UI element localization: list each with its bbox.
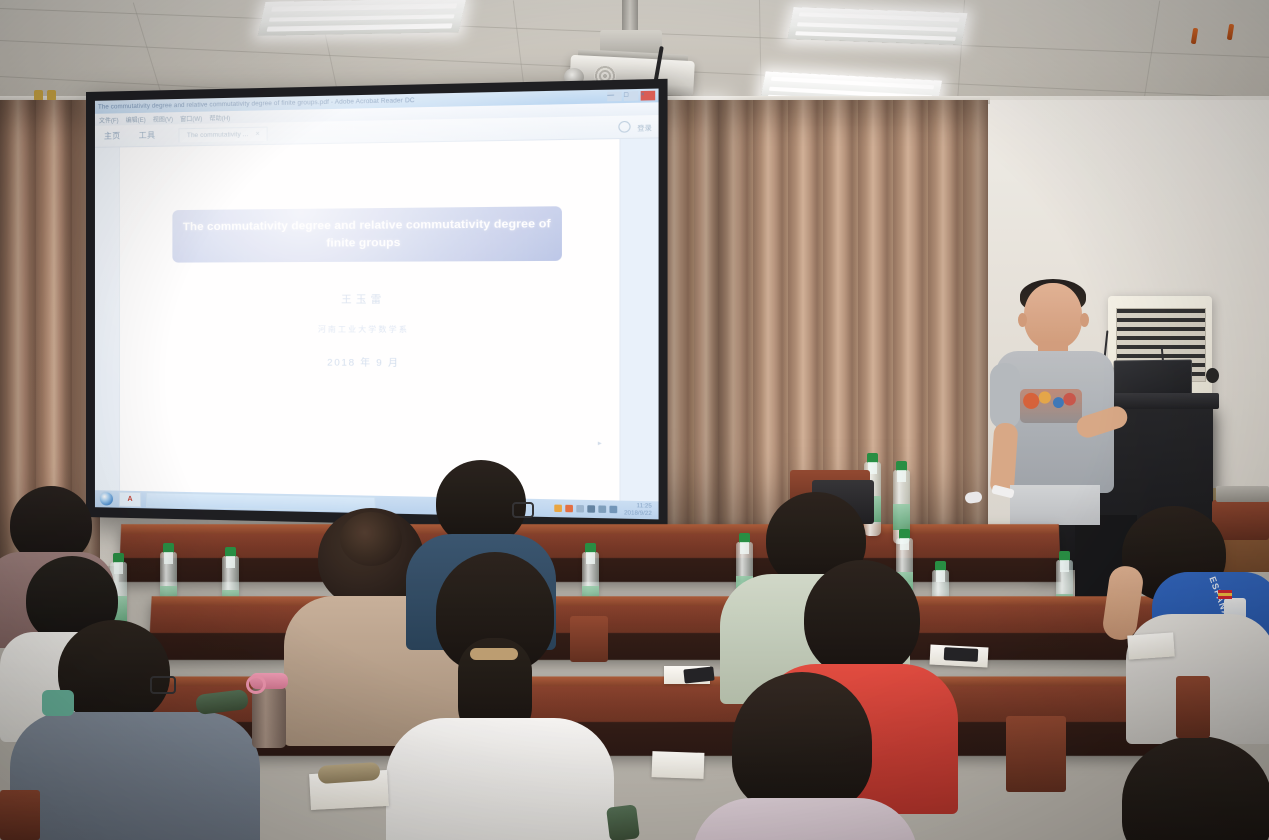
ceiling-light-panel xyxy=(258,0,467,36)
projection-screen-surface[interactable]: The commutativity degree and relative co… xyxy=(95,89,659,520)
presenter-shorts xyxy=(1010,485,1100,525)
smartphone xyxy=(944,647,979,662)
audience-head xyxy=(732,672,872,812)
slide-title: The commutativity degree and relative co… xyxy=(172,206,562,262)
menu-item-help[interactable]: 帮助(H) xyxy=(209,113,230,123)
ceiling-light-panel xyxy=(787,7,967,45)
audience-member xyxy=(1106,736,1269,840)
eyeglasses-icon xyxy=(150,676,176,694)
home-tab[interactable]: 主页 xyxy=(95,130,130,142)
audience-torso xyxy=(386,718,614,840)
chair-back xyxy=(570,616,608,662)
menu-item-view[interactable]: 视图(V) xyxy=(153,114,173,123)
page-cursor-marker: ▸ xyxy=(598,439,602,447)
audience-torso xyxy=(10,712,260,840)
menu-item-window[interactable]: 窗口(W) xyxy=(180,113,202,123)
tools-tab[interactable]: 工具 xyxy=(130,130,165,142)
user-avatar-icon[interactable] xyxy=(618,121,630,133)
window-controls[interactable]: — □ × xyxy=(607,91,658,102)
notebook xyxy=(1127,632,1175,659)
presenter xyxy=(990,283,1120,523)
notebook xyxy=(652,751,705,779)
maximize-button[interactable]: □ xyxy=(624,91,638,101)
projector-mount-pole xyxy=(622,0,638,34)
document-tab[interactable]: The commutativity ... × xyxy=(179,126,268,142)
close-button[interactable]: × xyxy=(641,91,656,101)
tumbler-handle xyxy=(246,675,266,694)
acrobat-right-tools-pane[interactable] xyxy=(619,138,658,501)
audience-head xyxy=(58,620,170,724)
projection-screen-frame: The commutativity degree and relative co… xyxy=(86,79,668,530)
chair-back xyxy=(1176,676,1210,738)
eyeglasses-icon xyxy=(512,502,534,518)
system-tray[interactable]: 11:25 2018/9/22 xyxy=(554,501,654,517)
close-icon[interactable]: × xyxy=(255,130,259,137)
taskbar-acrobat-icon[interactable]: A xyxy=(119,492,141,508)
tshirt-graphic xyxy=(1020,389,1082,423)
presenter-ear xyxy=(1018,313,1027,327)
presenter-ear xyxy=(1080,313,1089,327)
slide-author: 王玉雷 xyxy=(341,291,385,306)
presenter-sleeve xyxy=(990,363,1020,429)
acrobat-document-area: The commutativity degree and relative co… xyxy=(95,138,659,501)
audience-member xyxy=(386,552,616,840)
hair-tie xyxy=(470,648,518,660)
menu-item-edit[interactable]: 编辑(E) xyxy=(126,114,146,123)
tray-icon-volume[interactable] xyxy=(599,505,607,513)
audience-head xyxy=(804,560,920,678)
tray-icon-arrow[interactable] xyxy=(576,505,584,513)
side-table-items xyxy=(1216,486,1269,502)
tray-icon-network[interactable] xyxy=(587,505,595,513)
slide-date: 2018 年 9 月 xyxy=(327,354,399,369)
lecture-hall-photo: A.B The commutativity degree and relativ… xyxy=(0,0,1269,840)
menu-item-file[interactable]: 文件(F) xyxy=(99,115,119,124)
green-thermos xyxy=(606,804,640,840)
clock-date: 2018/9/22 xyxy=(624,510,652,517)
acrobat-left-navigation-pane[interactable] xyxy=(95,147,120,490)
sign-in-label[interactable]: 登录 xyxy=(637,121,652,132)
document-tab-label: The commutativity ... xyxy=(187,131,248,139)
slide-affiliation: 河南工业大学数学系 xyxy=(318,323,409,335)
pdf-page[interactable]: The commutativity degree and relative co… xyxy=(120,139,620,501)
chair-back xyxy=(0,790,40,840)
ac-cable-knob xyxy=(1206,368,1219,383)
pdf-icon: A xyxy=(127,496,132,503)
chair-back xyxy=(1006,716,1066,792)
acrobat-account-area[interactable]: 登录 xyxy=(618,120,658,132)
tray-icon-input-method[interactable] xyxy=(610,506,618,514)
desk-surface xyxy=(121,524,1059,534)
tray-icon-cloud[interactable] xyxy=(565,505,573,513)
audience-member xyxy=(680,672,930,840)
pink-water-tumbler xyxy=(252,686,286,748)
audience-torso xyxy=(692,798,918,840)
presenter-head xyxy=(1024,283,1082,349)
wristband xyxy=(42,690,74,716)
minimize-button[interactable]: — xyxy=(607,91,621,101)
audience-head xyxy=(1122,736,1269,840)
taskbar-clock[interactable]: 11:25 2018/9/22 xyxy=(621,503,652,517)
